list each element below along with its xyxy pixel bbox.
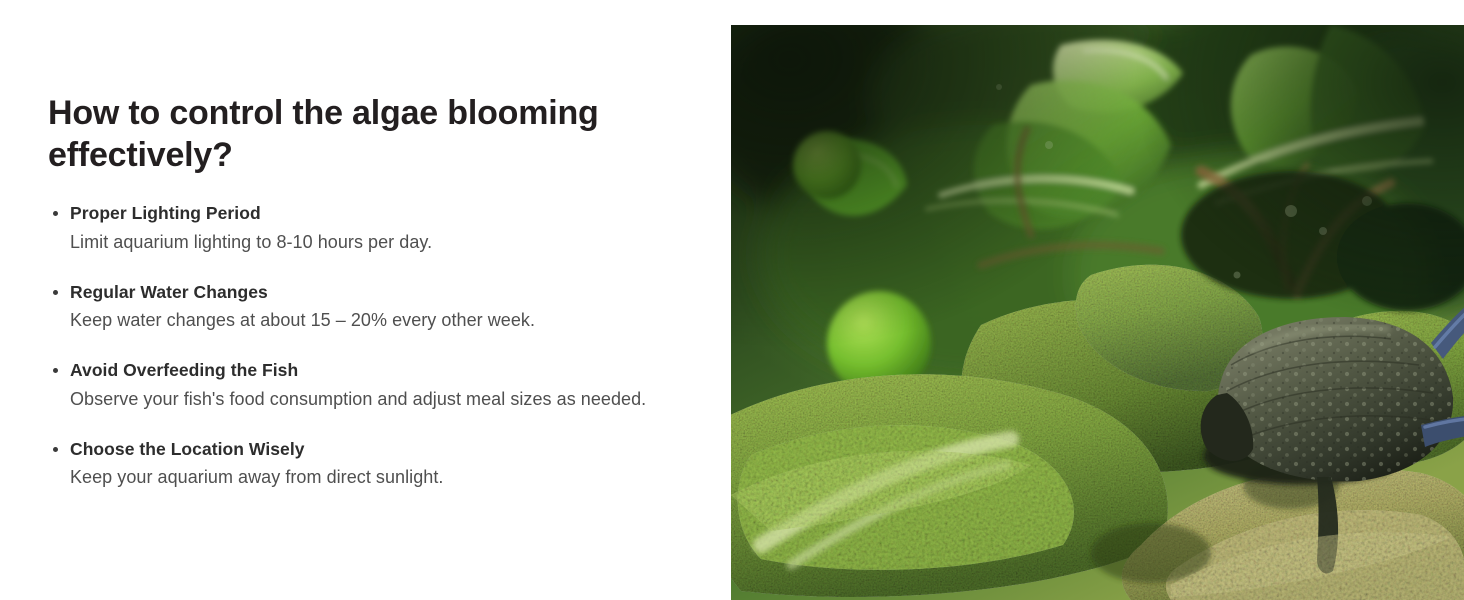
list-item: Avoid Overfeeding the Fish Observe your … xyxy=(48,359,701,411)
tip-title: Avoid Overfeeding the Fish xyxy=(70,359,701,383)
tip-title: Regular Water Changes xyxy=(70,281,701,305)
page-title: How to control the algae blooming effect… xyxy=(48,92,628,176)
aquarium-photo xyxy=(731,25,1464,600)
tip-description: Observe your fish's food consumption and… xyxy=(70,387,701,412)
list-item: Proper Lighting Period Limit aquarium li… xyxy=(48,202,701,254)
bullet-icon xyxy=(53,447,58,452)
bullet-icon xyxy=(53,368,58,373)
aquarium-photo-artwork xyxy=(731,25,1464,600)
tip-title: Choose the Location Wisely xyxy=(70,438,701,462)
bullet-icon xyxy=(53,290,58,295)
bullet-icon xyxy=(53,211,58,216)
tip-description: Limit aquarium lighting to 8-10 hours pe… xyxy=(70,230,701,255)
slide-root: How to control the algae blooming effect… xyxy=(0,0,1464,600)
list-item: Choose the Location Wisely Keep your aqu… xyxy=(48,438,701,490)
tip-description: Keep your aquarium away from direct sunl… xyxy=(70,465,701,490)
tips-list: Proper Lighting Period Limit aquarium li… xyxy=(48,202,701,490)
list-item: Regular Water Changes Keep water changes… xyxy=(48,281,701,333)
tip-title: Proper Lighting Period xyxy=(70,202,701,226)
text-panel: How to control the algae blooming effect… xyxy=(0,0,731,600)
tip-description: Keep water changes at about 15 – 20% eve… xyxy=(70,308,701,333)
